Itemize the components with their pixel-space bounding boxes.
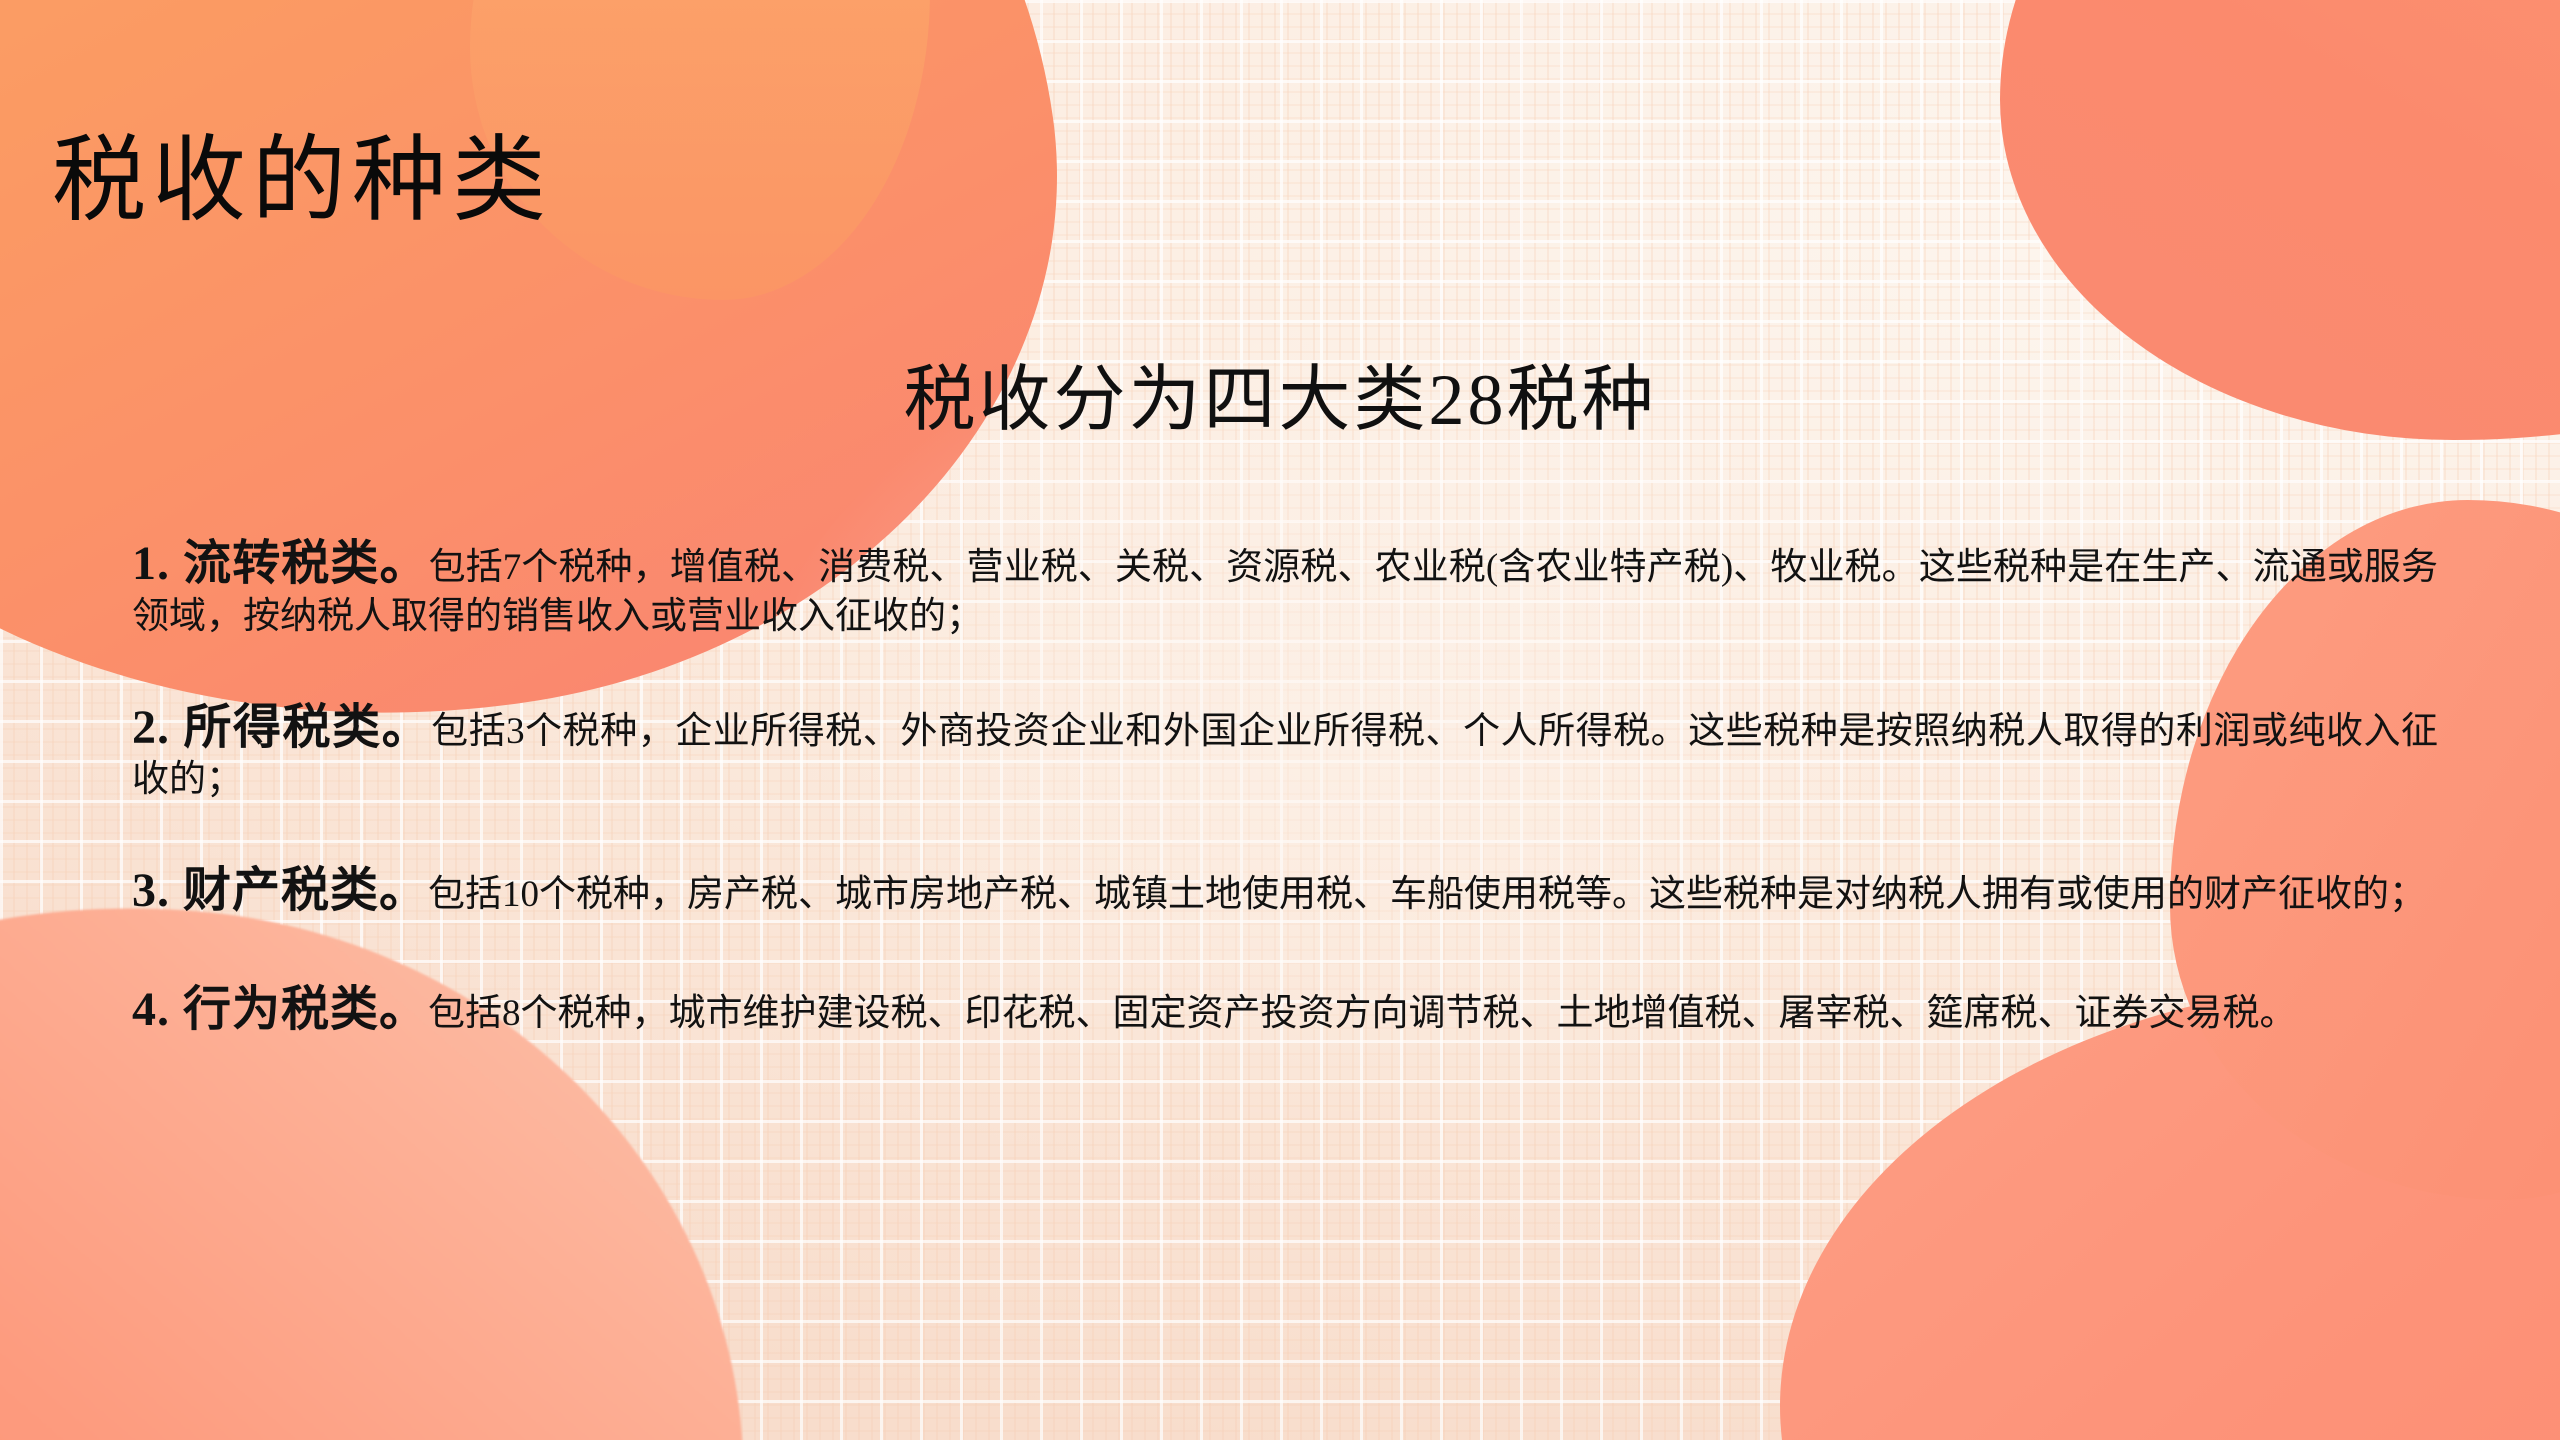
page-title: 税收的种类 xyxy=(52,132,552,231)
paragraph-2: 2. 所得税类。包括3个税种，企业所得税、外商投资企业和外国企业所得税、个人所得… xyxy=(132,699,2438,803)
paragraph-1: 1. 流转税类。包括7个税种，增值税、消费税、营业税、关税、资源税、农业税(含农… xyxy=(132,535,2438,639)
paragraph-4-lead: 4. 行为税类。 xyxy=(132,983,428,1036)
paragraph-4: 4. 行为税类。包括8个税种，城市维护建设税、印花税、固定资产投资方向调节税、土… xyxy=(132,981,2438,1040)
paragraph-3: 3. 财产税类。包括10个税种，房产税、城市房地产税、城镇土地使用税、车船使用税… xyxy=(132,862,2438,921)
paragraph-3-lead: 3. 财产税类。 xyxy=(132,864,428,917)
slide-content: 税收的种类 税收分为四大类28税种 1. 流转税类。包括7个税种，增值税、消费税… xyxy=(0,0,2560,1440)
paragraph-2-lead: 2. 所得税类。 xyxy=(132,701,431,754)
paragraph-2-body: 包括3个税种，企业所得税、外商投资企业和外国企业所得税、个人所得税。这些税种是按… xyxy=(132,711,2438,801)
paragraph-1-lead: 1. 流转税类。 xyxy=(132,537,429,590)
paragraph-4-body: 包括8个税种，城市维护建设税、印花税、固定资产投资方向调节税、土地增值税、屠宰税… xyxy=(428,993,2297,1034)
paragraph-1-body: 包括7个税种，增值税、消费税、营业税、关税、资源税、农业税(含农业特产税)、牧业… xyxy=(132,547,2438,637)
body-text-block: 1. 流转税类。包括7个税种，增值税、消费税、营业税、关税、资源税、农业税(含农… xyxy=(132,535,2438,1039)
slide-heading: 税收分为四大类28税种 xyxy=(0,340,2560,445)
slide-canvas: 税收的种类 税收分为四大类28税种 1. 流转税类。包括7个税种，增值税、消费税… xyxy=(0,0,2560,1440)
paragraph-3-body: 包括10个税种，房产税、城市房地产税、城镇土地使用税、车船使用税等。这些税种是对… xyxy=(428,874,2426,915)
